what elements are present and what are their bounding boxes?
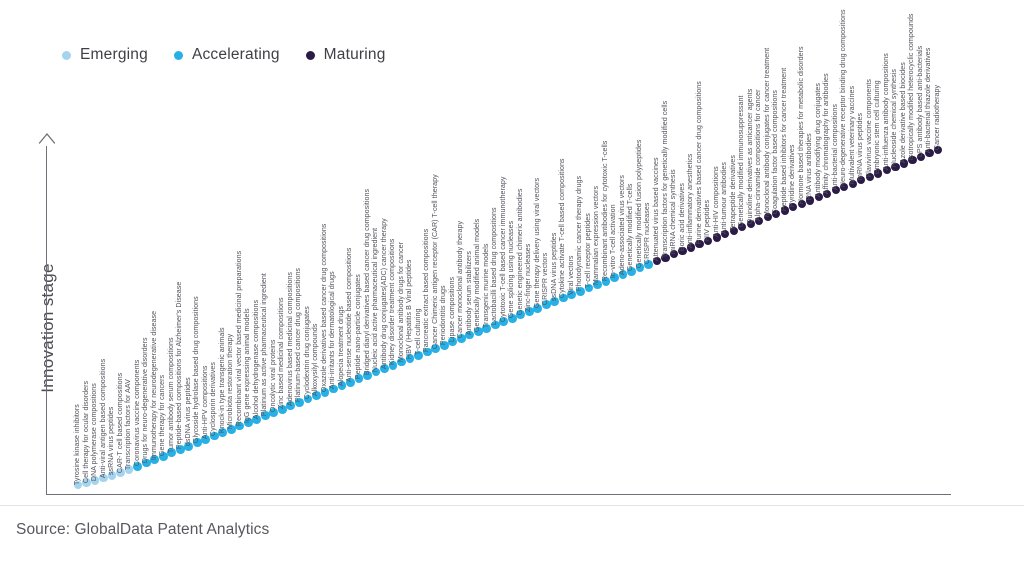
- chart-legend: EmergingAcceleratingMaturing: [62, 42, 386, 68]
- data-point-label: Cancer radiotherapy: [934, 85, 941, 150]
- data-point-label: Alkoxysilyl compounds: [312, 323, 319, 395]
- data-point-label: Microbiota restoration therapy: [227, 334, 234, 429]
- data-point-label: Anti-tumour antibodies: [721, 162, 728, 234]
- data-point-label: Antibody modifying drug conjugates: [815, 83, 822, 197]
- y-axis-line: [46, 146, 47, 495]
- legend-label: Maturing: [324, 46, 386, 64]
- data-point-label: Glycoside hydrolase based drug compositi…: [193, 296, 200, 443]
- legend-label: Accelerating: [192, 46, 280, 64]
- data-point-label: Embryonic stem cell culturing: [874, 80, 881, 174]
- data-point-label: Coagulation factor based compositions: [772, 90, 779, 214]
- legend-dot-icon: [174, 51, 183, 60]
- data-point-label: Tyrosine kinase inhibitors: [74, 404, 81, 485]
- data-point-label: Peptide-based compositions for Alzheimer…: [176, 282, 183, 449]
- data-point-label: Pyridine derivatives: [789, 145, 796, 208]
- data-point-label: Platinum-based cancer drug compositions: [295, 268, 302, 402]
- data-point-label: DNA polymerase compositions: [91, 383, 98, 481]
- data-point-label: Oncolytic viral proteins: [270, 340, 277, 413]
- data-point-label: Recombinant viral vector based medicinal…: [236, 251, 243, 426]
- data-point-label: Viral vectors: [568, 255, 575, 295]
- data-point-label: T-cell culturing: [415, 309, 422, 356]
- data-point-label: Zinc based medicinal compositions: [278, 298, 285, 410]
- data-point-label: CRISPR nucleases: [644, 203, 651, 265]
- legend-dot-icon: [62, 51, 71, 60]
- data-point-label: Anti-inflammatory anesthetics: [687, 153, 694, 248]
- data-point-label: Lipase compositions: [449, 277, 456, 342]
- data-point-label: Nucleoside chemical synthesis: [891, 69, 898, 167]
- data-point-label: Drugs for neuro-degenerative disorders: [142, 337, 149, 463]
- data-point-label: Genetically modified immunosuppressant: [738, 96, 745, 228]
- data-point-label: Bridged diaryl derivatives based cancer …: [363, 189, 370, 375]
- footer-divider: [0, 505, 1024, 506]
- y-axis-label: Innovation stage: [38, 218, 58, 438]
- data-point-label: Antibody drug conjugates(ADC) cancer the…: [380, 218, 387, 369]
- legend-item-emerging[interactable]: Emerging: [62, 46, 148, 64]
- data-point-label: Anti-influenza antibody compositions: [883, 53, 890, 170]
- data-point-label: Cytotoxic T-cell based cancer immunother…: [500, 176, 507, 322]
- data-point-label: Anti-bacterial thiazole derivatives: [925, 48, 932, 153]
- scatter-plot-area: Tyrosine kinase inhibitorsCell therapy f…: [0, 0, 1024, 576]
- data-point-label: Mammalian expression vectors: [593, 186, 600, 285]
- data-point-label: Tetrapeptide derivatives: [730, 155, 737, 231]
- data-point-label: Pancreatic extract based compositions: [423, 229, 430, 352]
- data-point-label: Immunotherapy for neurodegenerative dise…: [151, 310, 158, 459]
- data-point-label: Cancer monoclonal antibody therapy: [457, 221, 464, 338]
- data-point-label: dsDNA virus peptides: [185, 377, 192, 446]
- data-point-label: HIV peptides: [704, 200, 711, 241]
- data-point-label: Gene therapy delivery using viral vector…: [534, 178, 541, 308]
- data-point-label: T-cell receptor peptides: [585, 213, 592, 288]
- data-point-label: CRISPR vectors: [542, 253, 549, 305]
- data-point-label: Knock-in type transgenic animals: [219, 327, 226, 433]
- data-point-label: Transcription factors for genetically mo…: [661, 100, 668, 257]
- data-point-label: Cell therapy for ocular disorders: [82, 381, 89, 483]
- data-point-label: Alpha-cinnamide compositions for cancer: [755, 89, 762, 221]
- data-point-label: Genetically modified animal models: [474, 219, 481, 332]
- data-point-label: mRNA virus peptides: [857, 113, 864, 180]
- data-point-label: Cyclodextrin drug conjugates: [304, 306, 311, 399]
- data-point-label: Transcription factors for AAV: [125, 379, 132, 470]
- data-point-label: Recombinant antibodies for cytotoxic T-c…: [602, 141, 609, 281]
- data-point-label: Alopecia treatment drugs: [338, 306, 345, 386]
- data-point-label: Monoclonal antibody drugs for cancer: [397, 242, 404, 362]
- data-point-label: Anti-HIV compositions: [713, 167, 720, 238]
- data-point-label: Adeno-associated virus vectors: [619, 175, 626, 275]
- data-point-label: Neuro-degenerative receptor binding drug…: [840, 9, 847, 187]
- data-point-label: Peptide nano-particle conjugates: [355, 274, 362, 379]
- data-point-label: Anti-viral antigen based compositions: [99, 359, 106, 478]
- data-point-label: Attenuated virus based vaccines: [653, 157, 660, 261]
- x-axis-line: [46, 494, 951, 495]
- data-point-label: HBV (Hepatitis B Viral peptides: [406, 259, 413, 359]
- data-point-label: Cancer Chimeric antigen receptor (CAR) T…: [432, 174, 439, 349]
- data-point-label: Photodynamic cancer therapy drugs: [576, 176, 583, 291]
- data-point-label: Transgenic murine models: [483, 244, 490, 329]
- data-point-label: Quinoline derivatives as anticancer agen…: [747, 89, 754, 224]
- data-point-label: Antibody serum stabilizers: [466, 251, 473, 335]
- data-point-label: LPS antibody based anti-bacterials: [917, 45, 924, 156]
- y-axis-arrow-icon: [38, 133, 56, 151]
- data-point-label: Anti-bacterial compositions: [832, 104, 839, 190]
- data-point-label: Periodontitis drugs: [440, 286, 447, 346]
- data-point-label: Coronavirus vaccine components: [134, 360, 141, 466]
- data-point-label: Anti-sense nucleotide based compositions: [346, 248, 353, 383]
- data-point-label: miRNA chemical synthesis: [670, 170, 677, 255]
- legend-item-accelerating[interactable]: Accelerating: [174, 46, 280, 64]
- data-point-label: ssRNA virus peptides: [108, 407, 115, 475]
- data-point-label: Boric acid derivatives: [678, 183, 685, 251]
- data-point-label: Kidney disorder treatment compositions: [389, 239, 396, 366]
- legend-label: Emerging: [80, 46, 148, 64]
- data-point-label: Flavivirus vaccine components: [866, 79, 873, 177]
- data-point-label: Tumor antibody serum compositions: [168, 337, 175, 453]
- data-point-label: Purine derivatives based cancer drug com…: [695, 81, 702, 244]
- data-point-label: Cytokine activate T-cell based compositi…: [559, 159, 566, 299]
- data-point-label: Nucleic acid active pharmaceutical ingre…: [372, 228, 379, 372]
- data-point-label: Oxazole derivatives based cancer drug co…: [321, 224, 328, 393]
- data-point-label: Adenovirus based medicinal compositions: [287, 272, 294, 406]
- data-point-label: IgG gene expressing animal models: [244, 308, 251, 423]
- data-point-label: Isotropically modified heterocyclic comp…: [908, 14, 915, 161]
- data-point-label: RNA virus antibodies: [806, 134, 813, 201]
- data-point-label: Hormone based therapies for metabolic di…: [798, 46, 805, 204]
- data-point-label: Genetically modified T-cells: [627, 184, 634, 272]
- data-point-label: In-vitro T-cell activation: [610, 204, 617, 278]
- data-point-label: Alcohol dehydrogenase compositions: [253, 300, 260, 419]
- data-point-label: Anti-HPV compositions: [202, 366, 209, 440]
- source-caption: Source: GlobalData Patent Analytics: [16, 521, 269, 539]
- data-point-label: ssDNA virus peptides: [551, 233, 558, 301]
- data-point-label: CAR-T cell based compositions: [116, 372, 123, 472]
- data-point-label: Affinity chromatography for antibodies: [823, 73, 830, 194]
- data-point-label: Zinc-finger nucleases: [525, 243, 532, 311]
- legend-item-maturing[interactable]: Maturing: [306, 46, 386, 64]
- data-point-label: Cyclosporin derivatives: [210, 362, 217, 436]
- data-point-label: Azole derivative based biocides: [900, 63, 907, 164]
- data-point-label: Gene splicing using nucleases: [508, 221, 515, 318]
- data-point-label: Genetic engineered chimeric antibodies: [517, 188, 524, 315]
- data-point-label: Peptide based inhibitors for cancer trea…: [781, 67, 788, 210]
- data-point-label: Multivalent veterinary vaccines: [849, 86, 856, 184]
- data-point-label: Lactobacilli based drug compositions: [491, 207, 498, 325]
- data-point-label: Platinum as active pharmaceutical ingred…: [261, 273, 268, 416]
- chart-page: EmergingAcceleratingMaturing Innovation …: [0, 0, 1024, 576]
- data-point-label: Genetically modified fusion polypeptides: [636, 139, 643, 268]
- data-point-label: Monoclonal antibody conjugates for cance…: [764, 48, 771, 217]
- data-point-label: Anti-irritants for dermatological drugs: [329, 271, 336, 389]
- data-point-label: Gene therapy for cancers: [159, 375, 166, 456]
- legend-dot-icon: [306, 51, 315, 60]
